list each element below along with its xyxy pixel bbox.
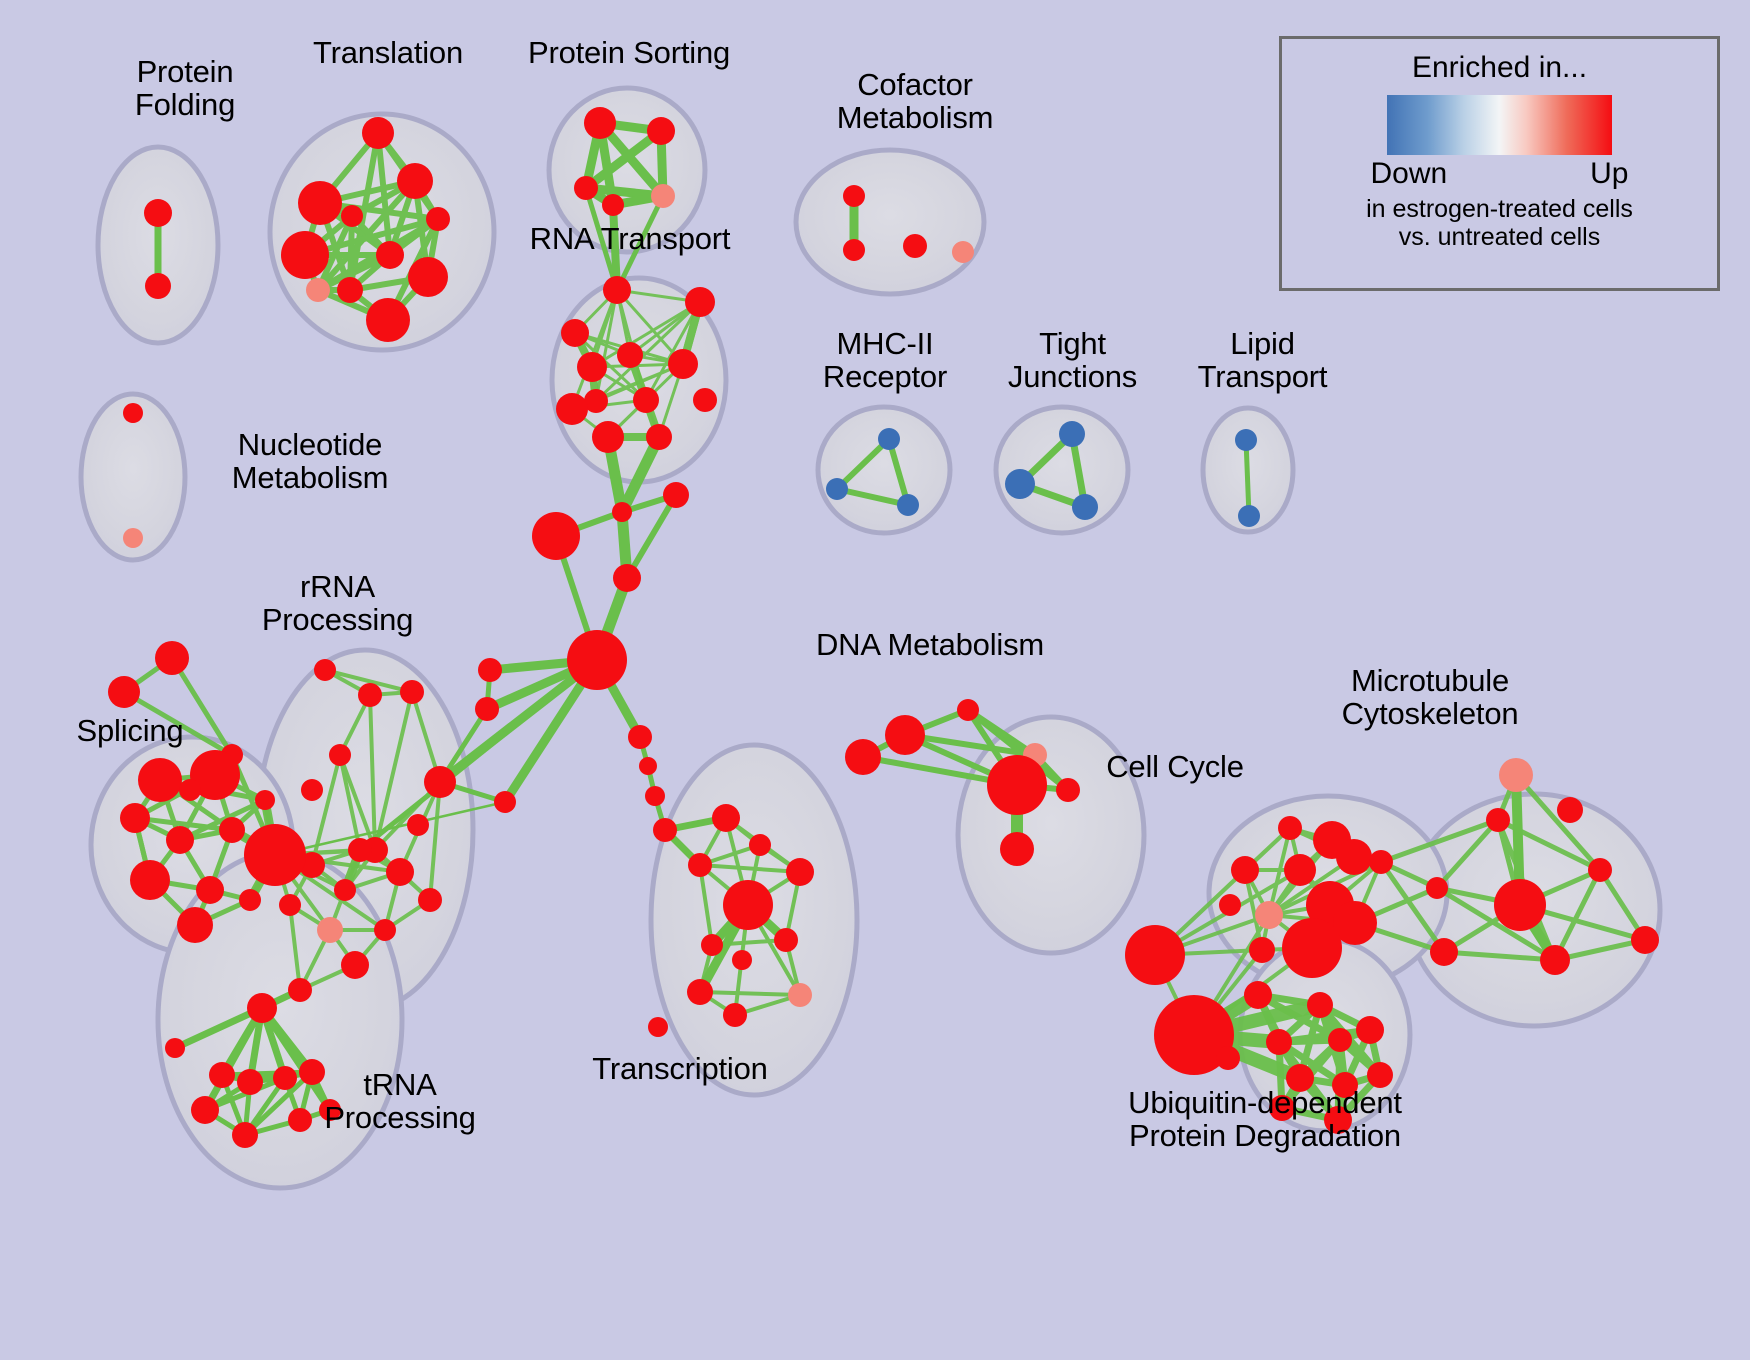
node: [1238, 505, 1260, 527]
node: [1369, 850, 1393, 874]
node: [701, 934, 723, 956]
node: [843, 185, 865, 207]
node: [232, 1122, 258, 1148]
node: [1486, 808, 1510, 832]
node: [348, 838, 372, 862]
node: [478, 658, 502, 682]
node: [952, 241, 974, 263]
node: [786, 858, 814, 886]
node: [376, 241, 404, 269]
node: [653, 818, 677, 842]
network-figure: Protein Folding Translation Protein Sort…: [0, 0, 1750, 1360]
node: [1249, 937, 1275, 963]
node: [1255, 901, 1283, 929]
node: [1059, 421, 1085, 447]
node: [1332, 1072, 1358, 1098]
node: [1426, 877, 1448, 899]
node: [612, 502, 632, 522]
node: [577, 352, 607, 382]
node: [1494, 879, 1546, 931]
node: [273, 1066, 297, 1090]
blob-mhc: [818, 407, 950, 533]
node: [145, 273, 171, 299]
node: [1072, 494, 1098, 520]
node: [1000, 832, 1034, 866]
node: [1219, 894, 1241, 916]
node: [1499, 758, 1533, 792]
legend-subtitle: in estrogen-treated cells vs. untreated …: [1282, 195, 1717, 251]
node: [1356, 1016, 1384, 1044]
color-legend: Enriched in... Down Up in estrogen-treat…: [1279, 36, 1720, 291]
node: [651, 184, 675, 208]
node: [314, 659, 336, 681]
node: [301, 779, 323, 801]
node: [1307, 992, 1333, 1018]
node: [341, 205, 363, 227]
blob-protein-sorting: [549, 88, 705, 252]
node: [788, 983, 812, 1007]
node: [358, 683, 382, 707]
node: [685, 287, 715, 317]
node: [191, 1096, 219, 1124]
node: [426, 207, 450, 231]
node: [749, 834, 771, 856]
node: [123, 403, 143, 423]
node: [1557, 797, 1583, 823]
node: [1286, 1064, 1314, 1092]
node: [723, 880, 773, 930]
node: [386, 858, 414, 886]
node: [239, 889, 261, 911]
node: [407, 814, 429, 836]
node: [288, 978, 312, 1002]
node: [878, 428, 900, 450]
blob-dna-metabolism: [958, 717, 1144, 953]
legend-low-label: Down: [1371, 157, 1448, 191]
node: [1284, 854, 1316, 886]
node: [602, 194, 624, 216]
node: [648, 1017, 668, 1037]
node: [1216, 1046, 1240, 1070]
node: [826, 478, 848, 500]
node: [475, 697, 499, 721]
node: [1367, 1062, 1393, 1088]
node: [668, 349, 698, 379]
node: [108, 676, 140, 708]
node: [1269, 1095, 1295, 1121]
node: [279, 894, 301, 916]
node: [237, 1069, 263, 1095]
node: [179, 779, 201, 801]
node: [688, 853, 712, 877]
node: [1540, 945, 1570, 975]
node: [281, 231, 329, 279]
node: [1244, 981, 1272, 1009]
node: [532, 512, 580, 560]
node: [645, 786, 665, 806]
node: [130, 860, 170, 900]
node: [574, 176, 598, 200]
node: [1631, 926, 1659, 954]
legend-color-gradient-bar: [1387, 95, 1612, 155]
node: [299, 1059, 325, 1085]
node: [298, 181, 342, 225]
node: [196, 876, 224, 904]
node: [567, 630, 627, 690]
node: [639, 757, 657, 775]
node: [244, 824, 306, 886]
node: [897, 494, 919, 516]
node: [1282, 918, 1342, 978]
node: [334, 879, 356, 901]
node: [366, 298, 410, 342]
node: [120, 803, 150, 833]
node: [397, 163, 433, 199]
node: [1328, 1028, 1352, 1052]
node: [219, 817, 245, 843]
node: [647, 117, 675, 145]
legend-title: Enriched in...: [1282, 51, 1717, 85]
node: [317, 917, 343, 943]
node: [1324, 1106, 1352, 1134]
node: [987, 755, 1047, 815]
node: [494, 791, 516, 813]
node: [177, 907, 213, 943]
node: [957, 699, 979, 721]
node: [1005, 469, 1035, 499]
node: [687, 979, 713, 1005]
node: [247, 993, 277, 1023]
node: [400, 680, 424, 704]
node: [1588, 858, 1612, 882]
node: [1125, 925, 1185, 985]
node: [712, 804, 740, 832]
node: [418, 888, 442, 912]
blob-cofactor: [796, 150, 984, 294]
node: [306, 278, 330, 302]
node: [617, 342, 643, 368]
node: [1266, 1029, 1292, 1055]
node: [319, 1099, 341, 1121]
node: [209, 1062, 235, 1088]
node: [732, 950, 752, 970]
node: [646, 424, 672, 450]
node: [362, 117, 394, 149]
node: [337, 277, 363, 303]
node: [774, 928, 798, 952]
node: [633, 387, 659, 413]
node: [885, 715, 925, 755]
node: [255, 790, 275, 810]
node: [329, 744, 351, 766]
node: [138, 758, 182, 802]
node: [424, 766, 456, 798]
node: [556, 393, 588, 425]
node: [1231, 856, 1259, 884]
node: [288, 1108, 312, 1132]
node: [1056, 778, 1080, 802]
node: [1278, 816, 1302, 840]
node: [628, 725, 652, 749]
node: [166, 826, 194, 854]
node: [374, 919, 396, 941]
node: [341, 951, 369, 979]
node: [903, 234, 927, 258]
node: [663, 482, 689, 508]
node: [144, 199, 172, 227]
node: [155, 641, 189, 675]
node: [693, 388, 717, 412]
legend-high-label: Up: [1590, 157, 1628, 191]
node: [1430, 938, 1458, 966]
node: [123, 528, 143, 548]
node: [584, 107, 616, 139]
node: [723, 1003, 747, 1027]
node: [165, 1038, 185, 1058]
node: [603, 276, 631, 304]
node: [408, 257, 448, 297]
node: [1336, 839, 1372, 875]
node: [592, 421, 624, 453]
node: [613, 564, 641, 592]
node: [1235, 429, 1257, 451]
node: [845, 739, 881, 775]
node: [843, 239, 865, 261]
node: [561, 319, 589, 347]
